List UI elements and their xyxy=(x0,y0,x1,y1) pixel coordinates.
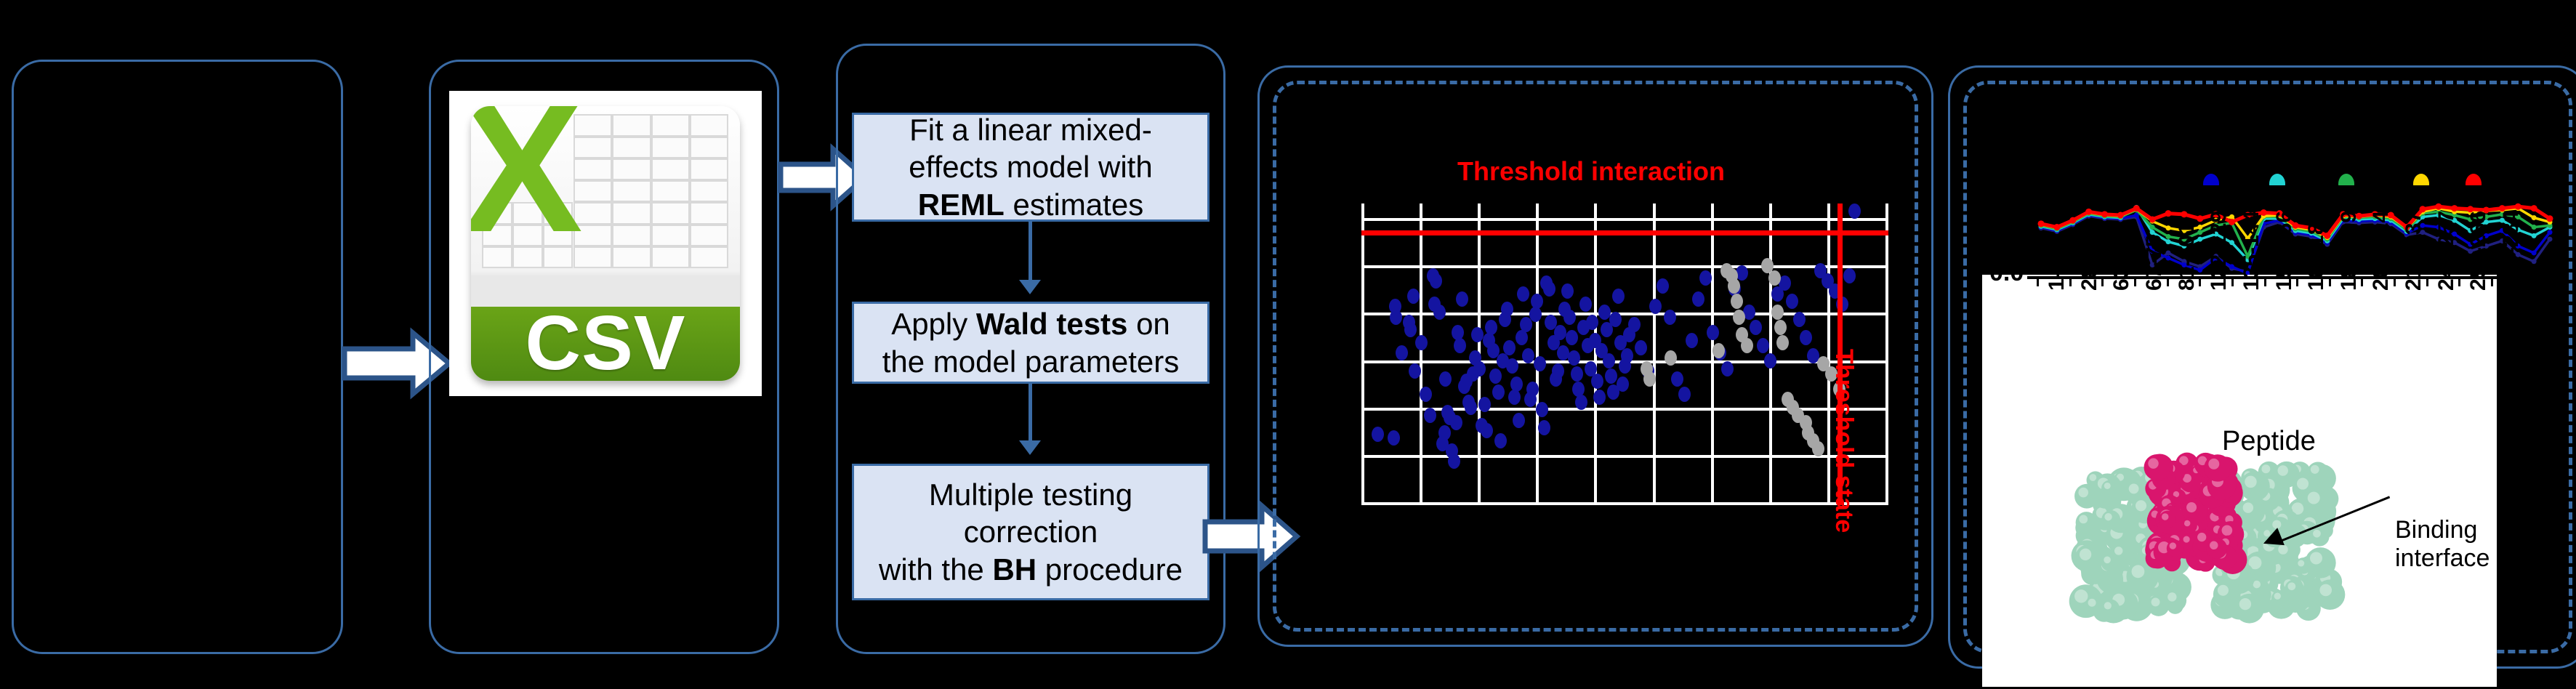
line-data-point xyxy=(2548,237,2553,242)
gridline-vertical xyxy=(1536,204,1539,505)
binding-interface-line-1: Binding xyxy=(2395,516,2490,544)
gridline-horizontal xyxy=(1361,265,1888,268)
protein-surface-highlight xyxy=(2170,542,2176,549)
peptide-tick xyxy=(2199,276,2201,286)
scatter-point xyxy=(1776,335,1789,350)
scatter-point xyxy=(1526,382,1539,397)
peptide-tick xyxy=(2361,276,2363,286)
csv-file-icon: X CSV xyxy=(449,91,762,396)
scatter-point xyxy=(1557,345,1569,360)
csv-extension-band: CSV xyxy=(471,307,740,381)
scatter-point xyxy=(1448,454,1460,469)
peptide-tick xyxy=(2101,276,2104,286)
scatter-point xyxy=(1750,320,1762,335)
protein-surface-blob xyxy=(2234,594,2264,624)
peptide-tick-label: 241-257 xyxy=(2434,211,2459,291)
peptide-tick xyxy=(2264,276,2266,286)
protein-surface-blob xyxy=(2303,487,2333,517)
protein-surface-highlight xyxy=(2078,488,2088,498)
scatter-point xyxy=(1848,204,1861,219)
scatter-point xyxy=(1473,361,1486,376)
protein-surface-highlight xyxy=(2298,560,2304,567)
protein-surface-highlight xyxy=(2239,598,2251,610)
protein-surface-highlight xyxy=(2245,476,2256,488)
peptide-tick-label: 158-166 xyxy=(2272,211,2297,291)
scatter-point xyxy=(1598,305,1611,320)
threshold-interaction-line xyxy=(1361,230,1888,235)
line-data-point xyxy=(2150,230,2155,235)
protein-surface-blob xyxy=(2310,527,2330,547)
line-data-point xyxy=(2038,220,2045,227)
scatter-point xyxy=(1712,343,1725,358)
binding-interface-line-2: interface xyxy=(2395,544,2490,573)
protein-surface-highlight xyxy=(2152,597,2160,606)
protein-surface-highlight xyxy=(2132,565,2145,578)
protein-surface-highlight xyxy=(2197,533,2206,541)
scatter-point xyxy=(1771,305,1784,320)
scatter-point xyxy=(1686,333,1698,348)
scatter-point xyxy=(1485,320,1497,335)
protein-surface-blob xyxy=(2101,599,2120,618)
peptide-tick-label: 200-214 xyxy=(2369,211,2394,291)
protein-surface-blob xyxy=(2159,511,2176,528)
scatter-point xyxy=(1603,353,1615,368)
peptide-tick-label: 184-199 xyxy=(2337,211,2362,291)
scatter-point xyxy=(1554,325,1566,340)
protein-surface-highlight xyxy=(2148,458,2158,468)
protein-surface-highlight xyxy=(2210,541,2218,549)
protein-surface-blob xyxy=(2101,480,2118,497)
excel-x-glyph: X xyxy=(474,106,571,230)
gridline-horizontal xyxy=(1361,408,1888,411)
line-data-point xyxy=(2150,225,2155,230)
scatter-point xyxy=(1605,368,1617,384)
protein-surface-highlight xyxy=(2297,478,2309,489)
protein-surface-highlight xyxy=(2308,492,2320,504)
flow-step-bh-text: Multiple testingcorrectionwith the BH pr… xyxy=(854,476,1207,588)
scatter-point xyxy=(1566,330,1578,345)
scatter-point xyxy=(1433,305,1446,320)
scatter-point xyxy=(1731,294,1743,309)
scatter-point xyxy=(1503,340,1516,355)
connector-2-arrowhead xyxy=(1019,440,1041,455)
peptide-tick-label: 1-15 xyxy=(2045,247,2069,291)
protein-surface-blob xyxy=(2144,454,2170,480)
flow-step-bh[interactable]: Multiple testingcorrectionwith the BH pr… xyxy=(852,464,1209,600)
protein-surface-highlight xyxy=(2261,464,2270,473)
threshold-interaction-label: Threshold interaction xyxy=(1457,156,1725,187)
scatter-point xyxy=(1628,317,1641,332)
scatter-point xyxy=(1609,312,1622,327)
protein-surface-highlight xyxy=(2104,483,2111,489)
scatter-point xyxy=(1721,361,1734,376)
line-data-point xyxy=(2532,259,2537,264)
scatter-point xyxy=(1456,291,1468,307)
protein-surface-blob xyxy=(2285,579,2304,599)
protein-surface-highlight xyxy=(2253,581,2261,589)
scatter-point xyxy=(1513,413,1525,428)
y-axis-zero-label: 0.0 xyxy=(1989,259,2024,287)
scatter-point xyxy=(1733,310,1745,325)
scatter-point xyxy=(1424,408,1436,423)
peptide-tick-label: 135-144 xyxy=(2239,211,2264,291)
peptide-tick xyxy=(2296,276,2298,286)
scatter-point xyxy=(1561,283,1574,299)
protein-surface-highlight xyxy=(2310,552,2322,564)
scatter-point xyxy=(1396,345,1408,360)
scatter-point xyxy=(1534,356,1546,371)
scatter-point xyxy=(1439,371,1452,387)
scatter-point xyxy=(1800,330,1812,345)
line-data-point xyxy=(2435,204,2442,210)
scatter-point xyxy=(1728,278,1740,294)
scatter-point xyxy=(1692,291,1704,307)
scatter-point xyxy=(1430,273,1442,289)
scatter-point xyxy=(1591,374,1603,389)
scatter-plot xyxy=(1361,204,1888,505)
scatter-point xyxy=(1478,397,1491,412)
line-data-point xyxy=(2085,209,2092,215)
panel-1-empty xyxy=(12,60,343,654)
peptide-tick xyxy=(2491,276,2493,286)
line-data-point xyxy=(2532,215,2537,220)
scatter-point xyxy=(1643,371,1656,387)
connector-2 xyxy=(1029,384,1032,442)
peptide-tick xyxy=(2037,276,2039,286)
peptide-tick-label: 28-44 xyxy=(2077,235,2102,291)
scatter-point xyxy=(1517,286,1529,302)
protein-surface-highlight xyxy=(2104,513,2112,520)
scatter-point xyxy=(1665,350,1677,366)
scatter-point xyxy=(1409,363,1421,379)
protein-surface-blob xyxy=(2315,579,2346,610)
peptide-tick xyxy=(2231,276,2234,286)
scatter-point xyxy=(1774,320,1787,335)
scatter-point xyxy=(1612,289,1625,304)
protein-surface-highlight xyxy=(2104,557,2111,564)
scatter-point xyxy=(1390,310,1402,325)
peptide-tick xyxy=(2134,276,2136,286)
protein-surface-blob xyxy=(2148,595,2170,616)
protein-surface-highlight xyxy=(2136,500,2146,511)
gridline-vertical xyxy=(1420,204,1422,505)
gridline-vertical xyxy=(1653,204,1656,505)
connector-1-arrowhead xyxy=(1019,280,1041,294)
scatter-point xyxy=(1543,281,1555,297)
scatter-point xyxy=(1575,395,1587,410)
threshold-state-label: Threshold state xyxy=(1830,349,1858,533)
figure-stage: X CSV Fit a linear mixed-effects model w… xyxy=(0,0,2576,687)
scatter-point xyxy=(1529,307,1542,322)
scatter-point xyxy=(1552,363,1564,379)
results-white-card: 0.0 1-1528-4463-7367-7581-101122-129135-… xyxy=(1982,275,2497,687)
gridline-horizontal xyxy=(1361,455,1888,458)
scatter-point xyxy=(1571,366,1583,382)
connector-1 xyxy=(1029,222,1032,281)
scatter-point xyxy=(1741,338,1753,353)
scatter-point xyxy=(1593,390,1606,405)
scatter-point xyxy=(1407,289,1420,304)
line-data-point xyxy=(2531,205,2537,211)
scatter-point xyxy=(1492,384,1505,400)
peptide-tick-label: 218-237 xyxy=(2402,211,2426,291)
protein-surface-highlight xyxy=(2114,547,2122,555)
protein-surface-highlight xyxy=(2079,515,2088,524)
scatter-point xyxy=(1454,338,1466,353)
scatter-point xyxy=(1635,340,1647,355)
protein-surface-blob xyxy=(2295,557,2311,573)
scatter-point xyxy=(1420,387,1432,402)
scatter-point xyxy=(1481,423,1493,438)
gridline-vertical xyxy=(1361,204,1364,505)
flow-step-reml-text: Fit a linear mixed-effects model withREM… xyxy=(854,111,1207,223)
protein-surface-highlight xyxy=(2168,592,2176,601)
peptide-tick xyxy=(2167,276,2169,286)
protein-surface-highlight xyxy=(2218,585,2229,596)
scatter-point xyxy=(1494,433,1507,448)
flow-step-wald[interactable]: Apply Wald tests onthe model parameters xyxy=(852,302,1209,384)
scatter-point xyxy=(1793,312,1806,327)
peptide-tick-label: 167-180 xyxy=(2304,211,2329,291)
protein-surface-highlight xyxy=(2277,465,2287,475)
scatter-point xyxy=(1465,400,1477,415)
protein-surface-highlight xyxy=(2222,525,2233,536)
protein-surface-highlight xyxy=(2311,465,2319,474)
protein-surface-blob xyxy=(2101,554,2118,571)
scatter-point xyxy=(1563,310,1576,325)
peptide-tick-label: 63-73 xyxy=(2109,235,2134,291)
protein-surface-highlight xyxy=(2088,599,2096,607)
line-data-point xyxy=(2101,211,2108,217)
protein-surface-blob xyxy=(2240,471,2270,501)
scatter-point xyxy=(1843,268,1856,283)
protein-surface-blob xyxy=(2204,454,2231,481)
protein-surface-highlight xyxy=(2274,593,2281,600)
line-data-point xyxy=(2197,215,2203,222)
peptide-tick xyxy=(2426,276,2428,286)
protein-surface-blob xyxy=(2167,540,2184,557)
scatter-point xyxy=(1568,350,1580,366)
scatter-point xyxy=(1757,338,1769,353)
flow-step-reml[interactable]: Fit a linear mixed-effects model withREM… xyxy=(852,113,1209,222)
protein-surface-highlight xyxy=(2183,536,2190,542)
scatter-point xyxy=(1510,376,1523,392)
scatter-point xyxy=(1579,297,1592,312)
scatter-point xyxy=(1536,402,1548,417)
protein-surface-highlight xyxy=(2208,459,2219,470)
protein-surface-highlight xyxy=(2287,582,2295,590)
scatter-point xyxy=(1812,441,1824,456)
line-data-point xyxy=(2548,230,2553,235)
peptide-tick-label: 122-129 xyxy=(2207,211,2231,291)
scatter-point xyxy=(1671,371,1683,387)
scatter-point xyxy=(1538,420,1550,435)
protein-surface-highlight xyxy=(2313,530,2321,538)
protein-surface-highlight xyxy=(2104,602,2112,609)
scatter-point xyxy=(1522,348,1534,363)
protein-surface-blob xyxy=(2206,538,2227,559)
peptide-tick-label: 258-266 xyxy=(2466,211,2491,291)
scatter-point xyxy=(1471,327,1484,342)
peptide-tick xyxy=(2394,276,2396,286)
scatter-plot-area xyxy=(1361,204,1888,505)
gridline-horizontal xyxy=(1361,502,1888,505)
protein-surface-highlight xyxy=(2186,502,2197,512)
scatter-point xyxy=(1531,294,1543,309)
csv-extension-label: CSV xyxy=(526,299,686,381)
peptide-tick-label: 81-101 xyxy=(2175,223,2199,291)
scatter-point xyxy=(1764,353,1776,368)
gridline-vertical xyxy=(1885,204,1888,505)
line-data-point xyxy=(2166,225,2171,230)
scatter-point xyxy=(1489,368,1502,384)
line-data-point xyxy=(2149,216,2156,222)
line-data-point xyxy=(2053,224,2060,230)
scatter-point xyxy=(1516,330,1528,345)
protein-surface-blob xyxy=(2239,499,2265,525)
scatter-point xyxy=(1450,415,1462,430)
peptide-tick-label: 277-284 xyxy=(2499,211,2524,291)
scatter-point xyxy=(1707,325,1719,340)
scatter-point xyxy=(1678,387,1691,402)
scatter-point xyxy=(1657,278,1669,294)
peptide-tick xyxy=(2329,276,2331,286)
scatter-point xyxy=(1372,427,1384,442)
protein-surface-highlight xyxy=(2074,589,2088,603)
peptide-tick-label: 67-75 xyxy=(2142,235,2167,291)
peptide-tick xyxy=(2069,276,2072,286)
line-data-point xyxy=(2117,212,2124,219)
binding-interface-label: Binding interface xyxy=(2395,516,2490,573)
protein-surface-highlight xyxy=(2129,484,2139,494)
scatter-point xyxy=(1415,335,1428,350)
protein-surface-highlight xyxy=(2162,513,2169,520)
scatter-point xyxy=(1438,425,1451,440)
scatter-point xyxy=(1404,322,1417,337)
protein-surface-highlight xyxy=(2184,520,2191,527)
protein-surface-blob xyxy=(2101,510,2120,529)
line-data-point xyxy=(2165,210,2172,217)
scatter-point xyxy=(1699,270,1712,286)
scatter-point xyxy=(1664,310,1676,325)
line-data-point xyxy=(2547,215,2553,222)
peptide-tick xyxy=(2458,276,2460,286)
flow-step-wald-text: Apply Wald tests onthe model parameters xyxy=(854,305,1207,379)
gridline-horizontal xyxy=(1361,218,1888,221)
line-data-point xyxy=(2069,217,2076,224)
protein-surface-highlight xyxy=(2080,549,2091,560)
scatter-point xyxy=(1617,376,1629,392)
line-data-point xyxy=(2532,225,2537,230)
scatter-point xyxy=(1508,390,1521,405)
scatter-point xyxy=(1388,430,1400,446)
line-data-point xyxy=(2515,204,2521,210)
line-data-point xyxy=(2532,233,2537,238)
protein-surface-highlight xyxy=(2243,502,2253,512)
line-data-point xyxy=(2181,211,2187,217)
scatter-point xyxy=(1506,358,1518,374)
line-data-point xyxy=(2532,250,2537,255)
protein-surface-highlight xyxy=(2319,584,2332,597)
line-data-point xyxy=(2133,205,2140,211)
scatter-point xyxy=(1786,294,1798,309)
